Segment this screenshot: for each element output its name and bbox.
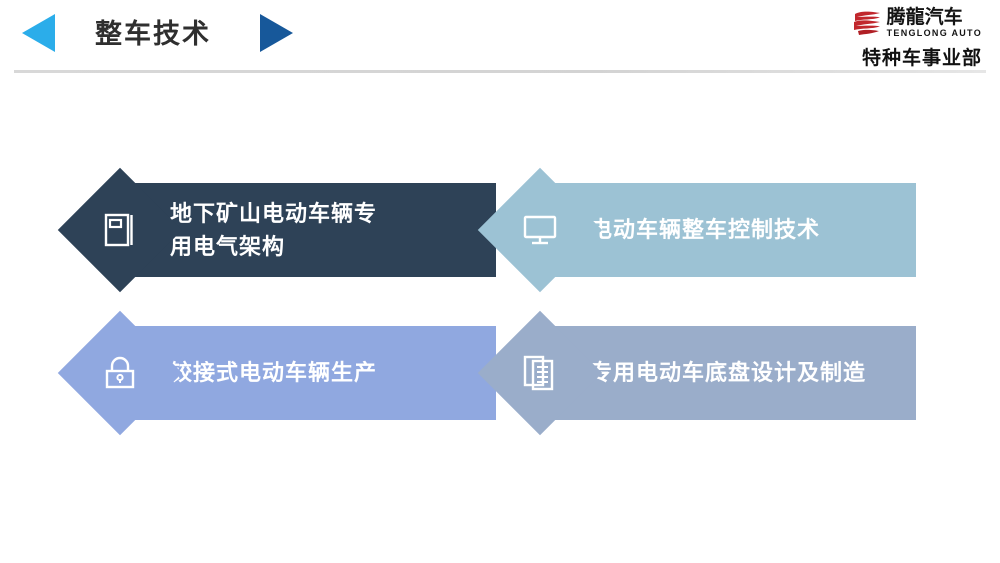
lock-icon — [98, 351, 142, 395]
book-icon — [98, 208, 142, 252]
documents-icon — [518, 351, 562, 395]
monitor-icon — [518, 208, 562, 252]
technology-card[interactable]: 铰接式电动车辆生产 — [76, 326, 496, 420]
technology-card[interactable]: 专用电动车底盘设计及制造 — [496, 326, 916, 420]
technology-card[interactable]: 地下矿山电动车辆专 用电气架构 — [76, 183, 496, 277]
slide-root: 整车技术 腾龍汽车 TENGLONG AUTO 特种车事业部 地下矿山 — [0, 0, 1000, 563]
technology-card[interactable]: 电动车辆整车控制技术 — [496, 183, 916, 277]
technology-card-grid: 地下矿山电动车辆专 用电气架构 电动车辆整车控制技术 — [0, 0, 1000, 563]
